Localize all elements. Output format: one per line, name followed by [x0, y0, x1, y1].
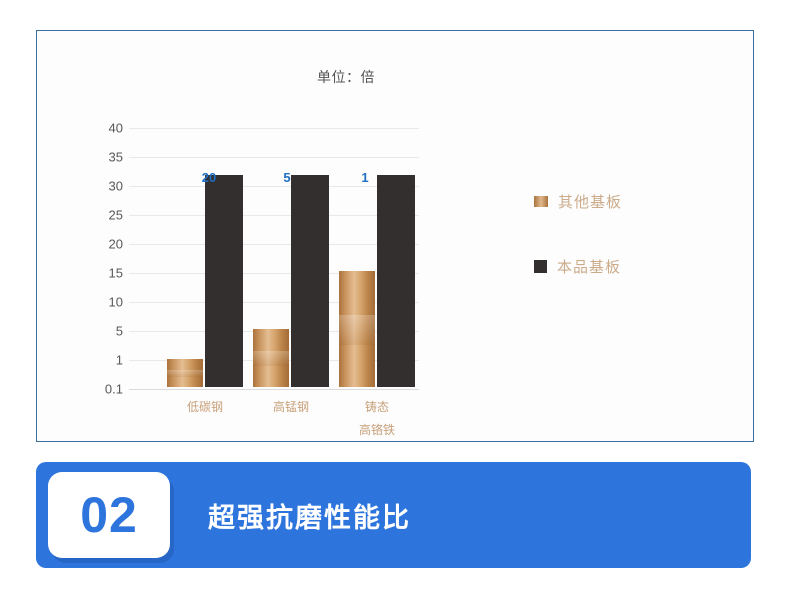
bar-ours-高锰钢 — [291, 175, 329, 387]
gridline-30 — [129, 186, 419, 187]
gridline-35 — [129, 157, 419, 158]
bar-other-铸态高铬铁 — [339, 271, 375, 387]
gridline-15 — [129, 273, 419, 274]
legend-item-other[interactable]: 其他基板 — [534, 191, 622, 212]
ytick-label-40: 40 — [89, 121, 123, 136]
ytick-label-20: 20 — [89, 237, 123, 252]
category-label-2: 高锰钢 — [273, 397, 309, 417]
legend-item-ours[interactable]: 本品基板 — [534, 256, 621, 277]
section-number-box: 02 — [48, 472, 170, 558]
legend-label-other: 其他基板 — [558, 191, 622, 212]
gridline-40 — [129, 128, 419, 129]
category-label-3b: 高铬铁 — [359, 420, 395, 440]
chart-card: 单位：倍 40 35 30 25 20 15 10 5 1 0.1 20 低碳钢… — [36, 30, 754, 442]
gridline-25 — [129, 215, 419, 216]
ytick-label-15: 15 — [89, 266, 123, 281]
legend-swatch-other-icon — [534, 196, 548, 207]
ytick-label-30: 30 — [89, 179, 123, 194]
value-label-3: 1 — [361, 170, 368, 185]
bar-other-高锰钢 — [253, 329, 289, 387]
ytick-label-5: 5 — [89, 324, 123, 339]
ytick-label-0.1: 0.1 — [89, 382, 123, 397]
bar-ours-低碳钢 — [205, 175, 243, 387]
gridline-0.1 — [129, 389, 419, 390]
section-title: 超强抗磨性能比 — [208, 462, 411, 568]
category-label-1: 低碳钢 — [187, 397, 223, 417]
ytick-label-25: 25 — [89, 208, 123, 223]
category-label-3a: 铸态 — [365, 397, 389, 417]
chart-unit-label: 单位：倍 — [317, 67, 375, 87]
legend-label-ours: 本品基板 — [557, 256, 621, 277]
gridline-10 — [129, 302, 419, 303]
value-label-2: 5 — [283, 170, 290, 185]
gridline-20 — [129, 244, 419, 245]
section-banner: 02 超强抗磨性能比 — [36, 462, 751, 568]
chart-plot-area: 单位：倍 40 35 30 25 20 15 10 5 1 0.1 20 低碳钢… — [37, 31, 753, 441]
legend-swatch-ours-icon — [534, 260, 547, 273]
value-label-1: 20 — [202, 170, 216, 185]
bar-ours-铸态高铬铁 — [377, 175, 415, 387]
ytick-label-1: 1 — [89, 353, 123, 368]
ytick-label-35: 35 — [89, 150, 123, 165]
ytick-label-10: 10 — [89, 295, 123, 310]
section-number: 02 — [80, 490, 138, 540]
bar-other-低碳钢 — [167, 359, 203, 387]
